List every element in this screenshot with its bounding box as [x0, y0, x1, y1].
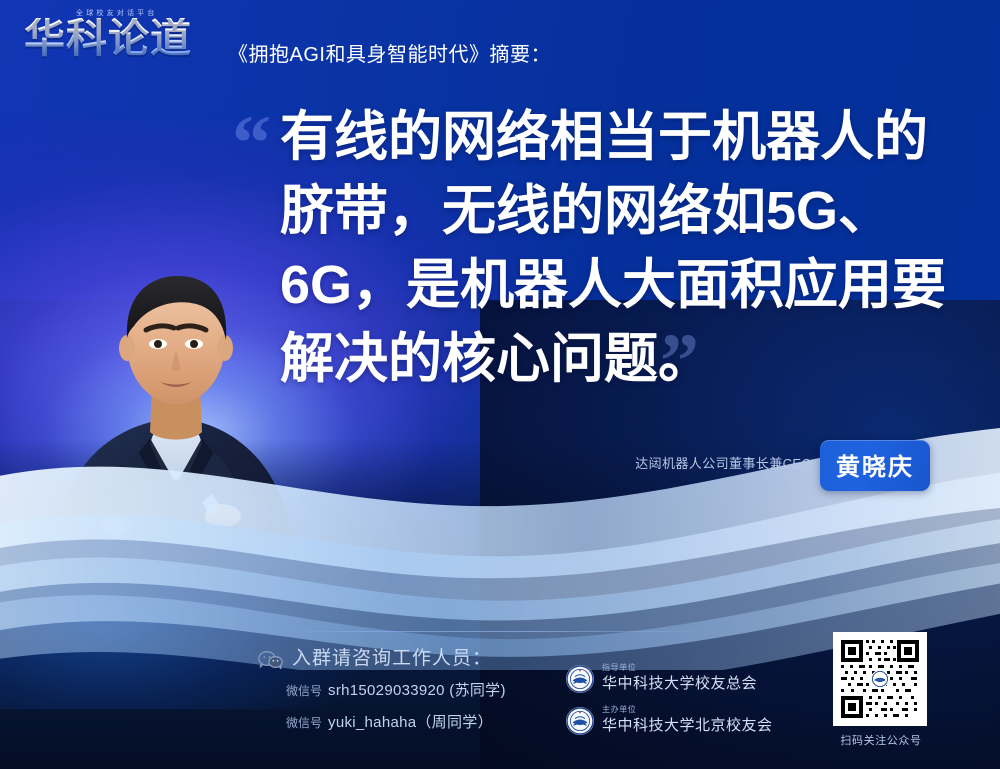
organizations: 指导单位 华中科技大学校友总会 主办单位 华中科技大学北京校友会 [565, 663, 795, 751]
qr-block: 扫码关注公众号 [833, 632, 933, 748]
speaker-role: 达闼机器人公司董事长兼CEO [635, 453, 812, 472]
speaker-name-badge: 黄晓庆 [820, 440, 930, 491]
quote-open-icon: “ [232, 104, 271, 182]
quote-line: 6G，是机器人大面积应用要 [280, 248, 950, 322]
poster-header: 全球校友对话平台 华科论道 《拥抱AGI和具身智能时代》摘要： [0, 0, 1000, 92]
page-title: 《拥抱AGI和具身智能时代》摘要： [228, 38, 551, 67]
quote-line: 解决的核心问题。 [280, 322, 950, 396]
university-seal-icon [565, 706, 595, 736]
wechat-icon [258, 650, 284, 670]
organization-row: 指导单位 华中科技大学校友总会 [565, 663, 795, 697]
quote-line: 脐带，无线的网络如5G、 [280, 174, 950, 248]
logo-text: 华科论道 [24, 18, 192, 59]
wechat-value: srh15029033920 (苏同学) [328, 682, 506, 699]
wechat-row: 微信号srh15029033920 (苏同学) [286, 679, 506, 700]
brand-logo: 全球校友对话平台 华科论道 [24, 6, 224, 76]
organization-name: 华中科技大学校友总会 [602, 672, 757, 693]
qr-caption: 扫码关注公众号 [831, 732, 931, 748]
quote-line: 有线的网络相当于机器人的 [280, 100, 950, 174]
wechat-label: 微信号 [286, 684, 322, 698]
contact-title: 入群请咨询工作人员： [292, 643, 492, 670]
organization-name: 华中科技大学北京校友会 [602, 714, 773, 735]
attribution: 达闼机器人公司董事长兼CEO 黄晓庆 [600, 440, 930, 486]
footer-divider [287, 631, 730, 632]
wechat-row: 微信号yuki_hahaha（周同学） [286, 711, 493, 732]
wechat-label: 微信号 [286, 716, 322, 730]
poster-root: 全球校友对话平台 华科论道 《拥抱AGI和具身智能时代》摘要： “ ” 有线的网… [0, 0, 1000, 769]
university-seal-icon [565, 664, 595, 694]
wechat-value: yuki_hahaha（周同学） [328, 714, 493, 731]
qr-code-icon[interactable] [833, 632, 927, 726]
quote-text: 有线的网络相当于机器人的 脐带，无线的网络如5G、 6G，是机器人大面积应用要 … [280, 100, 950, 396]
organization-row: 主办单位 华中科技大学北京校友会 [565, 705, 795, 739]
